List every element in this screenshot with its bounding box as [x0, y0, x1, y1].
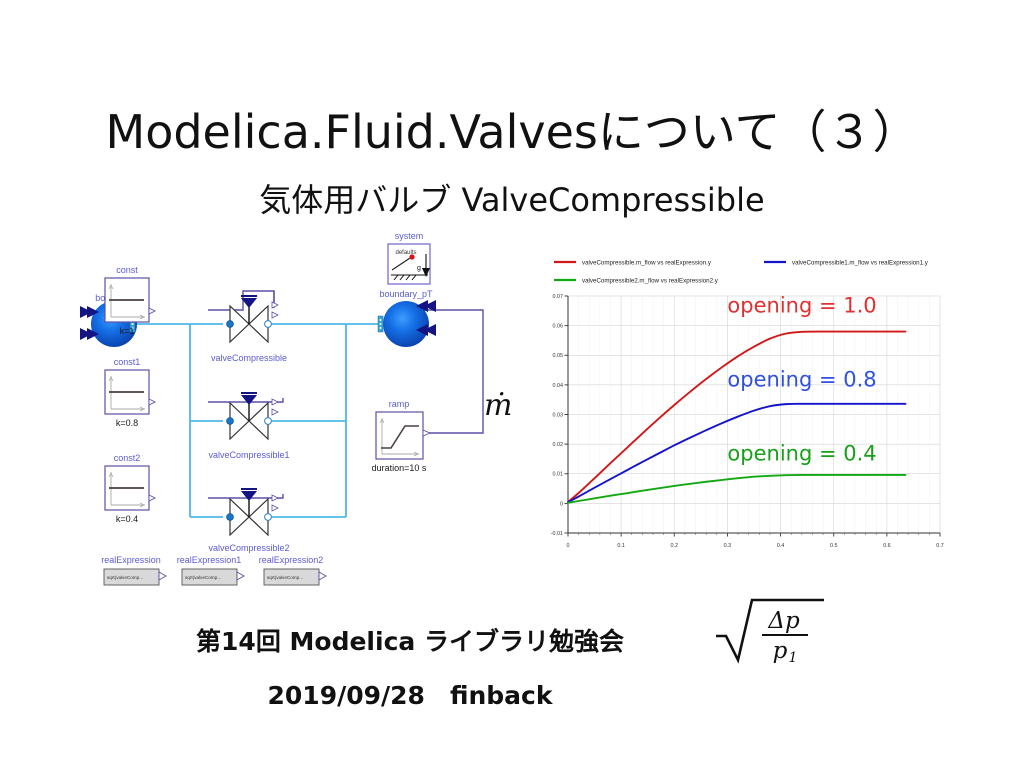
ytick-8: 0.07 — [553, 294, 564, 300]
ytick-1: 0 — [560, 501, 563, 507]
component-const1[interactable]: const1 k=0.8 — [105, 357, 155, 428]
label-valveCompressible: valveCompressible — [211, 353, 287, 363]
ytick-7: 0.06 — [553, 324, 564, 330]
annotation-2: opening = 0.4 — [727, 441, 876, 465]
component-system[interactable]: defaults g system — [388, 231, 430, 284]
legend-label-2: valveCompressible2.m_flow vs realExpress… — [582, 277, 719, 284]
mdot-symbol: ṁ — [484, 388, 512, 423]
label-const: const — [116, 265, 138, 275]
slide-root: Modelica.Fluid.Valvesについて（３） 気体用バルブ Valv… — [0, 0, 1024, 768]
component-const2[interactable]: const2 k=0.4 — [105, 453, 155, 524]
component-realExpression2[interactable]: sqrt(valveComp... realExpression2 — [259, 555, 326, 585]
label-const2: const2 — [114, 453, 141, 463]
expr-text-1: sqrt(valveComp... — [185, 575, 221, 580]
label-const1: const1 — [114, 357, 141, 367]
component-boundary-pT[interactable]: boundary_pT — [378, 289, 436, 347]
xtick-2: 0.2 — [671, 543, 679, 549]
ytick-4: 0.03 — [553, 412, 564, 418]
xtick-6: 0.6 — [883, 543, 891, 549]
page-title: Modelica.Fluid.Valvesについて（３） — [0, 96, 1024, 162]
component-realExpression[interactable]: sqrt(valveComp... realExpression — [101, 555, 166, 585]
annotation-1: opening = 0.8 — [727, 367, 876, 391]
label-valveCompressible2: valveCompressible2 — [208, 543, 289, 553]
label-system-g: g — [417, 265, 421, 272]
ytick-3: 0.02 — [553, 442, 564, 448]
chart-legend: valveCompressible.m_flow vs realExpressi… — [554, 259, 929, 284]
footer-date-author: 2019/09/28 finback — [0, 676, 820, 712]
param-const1-k: k=0.8 — [116, 418, 138, 428]
chart-annotations: opening = 1.0opening = 0.8opening = 0.4 — [727, 293, 876, 465]
label-realExpression: realExpression — [101, 555, 161, 565]
legend-label-0: valveCompressible.m_flow vs realExpressi… — [582, 259, 712, 266]
legend-label-1: valveCompressible1.m_flow vs realExpress… — [792, 259, 929, 266]
ytick-6: 0.05 — [553, 353, 564, 359]
annotation-0: opening = 1.0 — [727, 293, 876, 317]
xtick-5: 0.5 — [830, 543, 838, 549]
label-boundary-pT: boundary_pT — [379, 289, 433, 299]
param-ramp-duration: duration=10 s — [372, 463, 427, 473]
xtick-4: 0.4 — [777, 543, 785, 549]
label-realExpression2: realExpression2 — [259, 555, 324, 565]
component-valveCompressible[interactable]: valveCompressible — [211, 296, 287, 363]
component-realExpression1[interactable]: sqrt(valveComp... realExpression1 — [177, 555, 244, 585]
param-const2-k: k=0.4 — [116, 514, 138, 524]
label-valveCompressible1: valveCompressible1 — [208, 450, 289, 460]
param-const-k: k=1 — [120, 326, 135, 336]
xtick-1: 0.1 — [617, 543, 625, 549]
label-ramp: ramp — [389, 399, 410, 409]
expr-text-0: sqrt(valveComp... — [107, 575, 143, 580]
ytick-0: -0.01 — [551, 531, 563, 537]
footer-event: 第14回 Modelica ライブラリ勉強会 — [0, 622, 820, 658]
label-system: system — [395, 231, 424, 241]
expr-text-2: sqrt(valveComp... — [267, 575, 303, 580]
label-realExpression1: realExpression1 — [177, 555, 242, 565]
page-subtitle: 気体用バルブ ValveCompressible — [0, 175, 1024, 221]
xtick-3: 0.3 — [724, 543, 732, 549]
modelica-diagram: boundary const k=1 — [78, 228, 528, 598]
ytick-2: 0.01 — [553, 472, 564, 478]
results-chart: valveCompressible.m_flow vs realExpressi… — [532, 248, 944, 578]
component-ramp[interactable]: ramp duration=10 s — [372, 399, 430, 473]
xtick-7: 0.7 — [936, 543, 944, 549]
component-valveCompressible1[interactable]: valveCompressible1 — [208, 393, 289, 460]
ytick-5: 0.04 — [553, 383, 564, 389]
xtick-0: 0 — [567, 543, 570, 549]
